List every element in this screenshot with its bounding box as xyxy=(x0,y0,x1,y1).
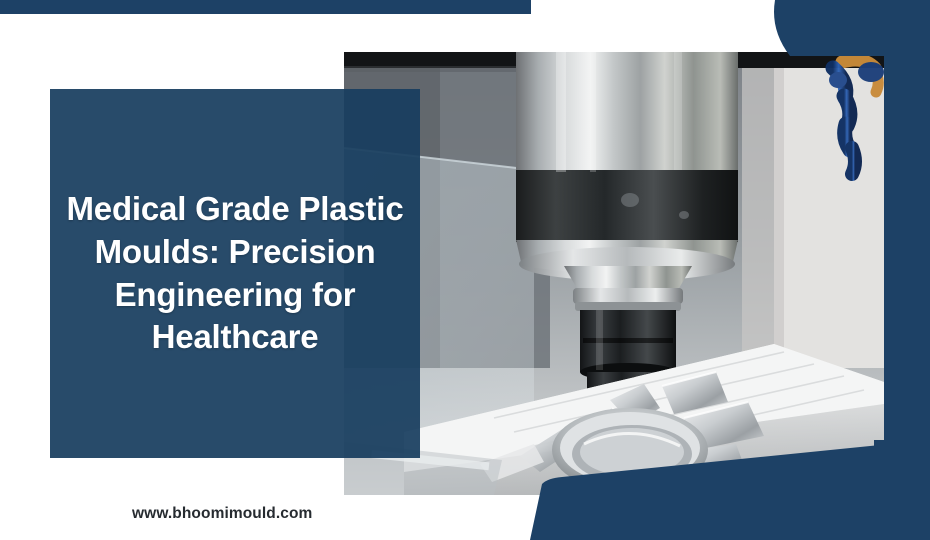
website-url[interactable]: www.bhoomimould.com xyxy=(132,505,312,523)
page-title: Medical Grade Plastic Moulds: Precision … xyxy=(50,188,420,360)
top-bar-decor xyxy=(0,0,531,14)
banner-root: Medical Grade Plastic Moulds: Precision … xyxy=(0,0,930,540)
bottom-right-angle-decor xyxy=(530,440,930,540)
headline-panel: Medical Grade Plastic Moulds: Precision … xyxy=(50,89,420,458)
top-right-angle-decor xyxy=(760,0,930,56)
hero-photo xyxy=(344,52,884,495)
right-navy-column-decor xyxy=(884,52,930,495)
